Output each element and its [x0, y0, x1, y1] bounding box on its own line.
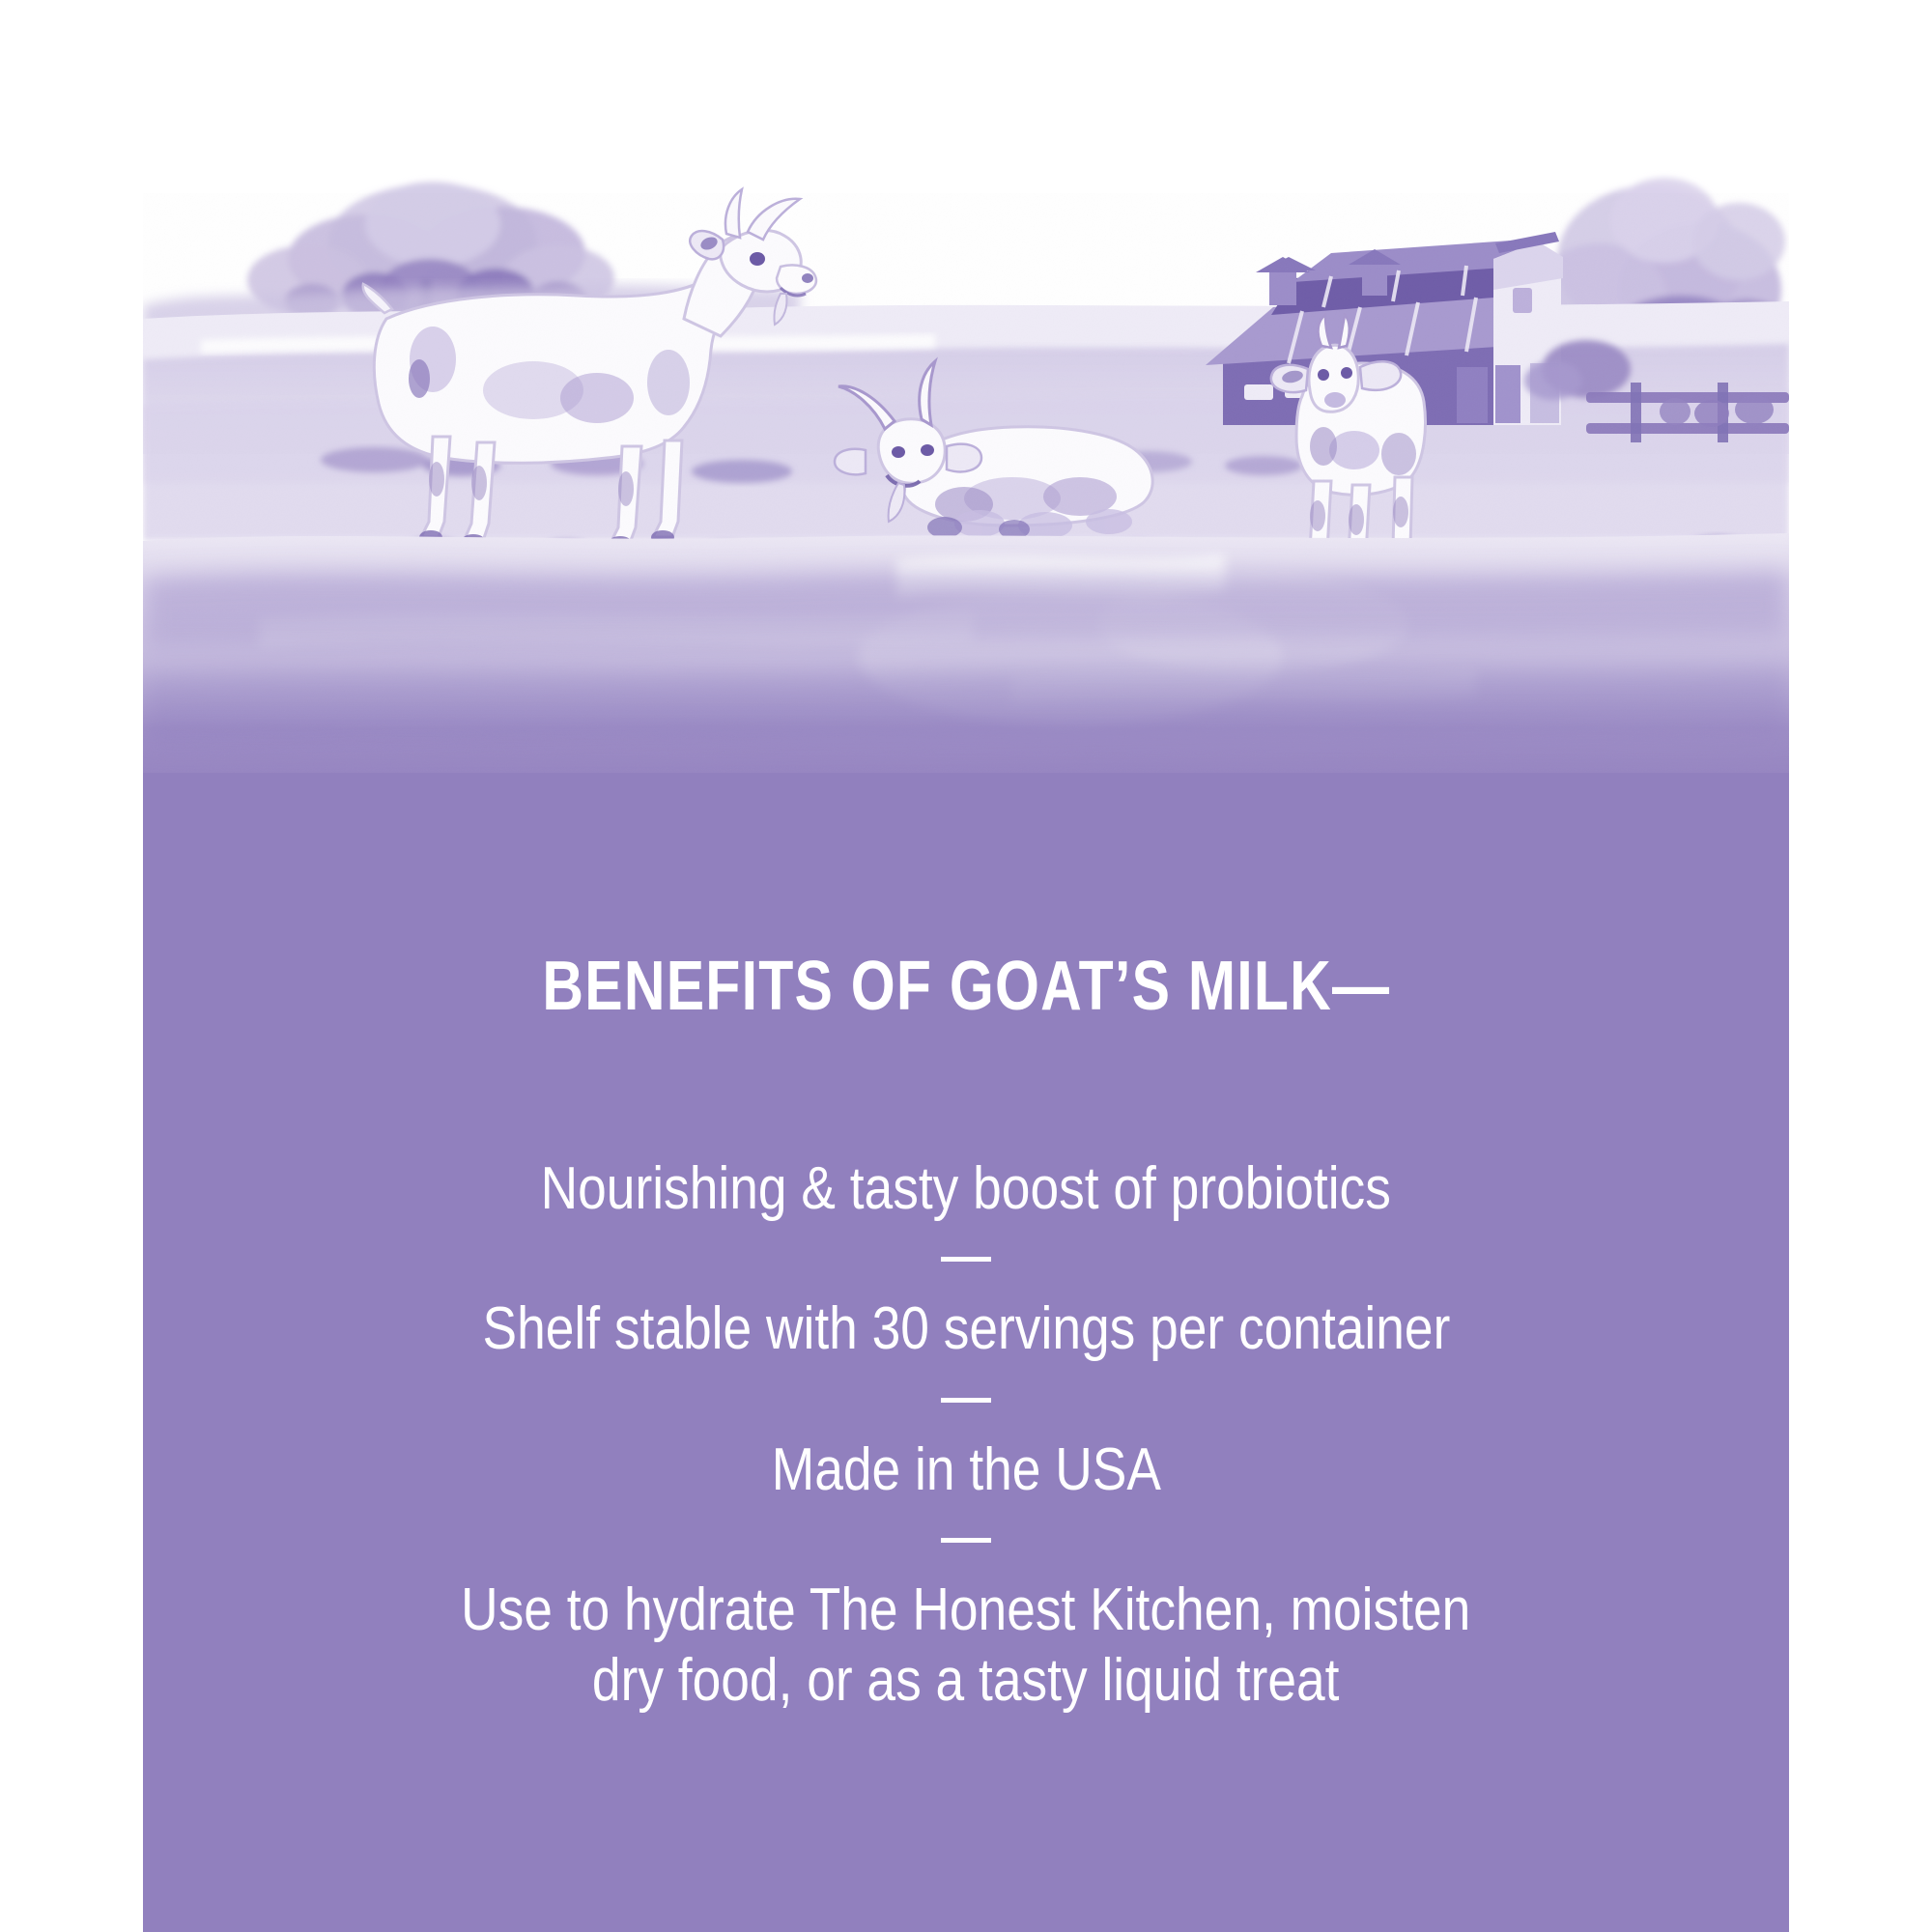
benefit-item-4: Use to hydrate The Honest Kitchen, moist… [461, 1576, 1470, 1716]
benefit-separator-3 [941, 1538, 991, 1543]
benefits-list: Nourishing & tasty boost of probiotics S… [213, 1154, 1719, 1717]
pasture-illustration [143, 0, 1789, 850]
benefit-item-2: Shelf stable with 30 servings per contai… [482, 1294, 1450, 1365]
benefit-item-1: Nourishing & tasty boost of probiotics [541, 1154, 1391, 1225]
benefit-separator-2 [941, 1398, 991, 1403]
paper-grain [143, 193, 1789, 850]
benefits-panel: BENEFITS OF GOAT’S MILK— Nourishing & ta… [143, 773, 1789, 1932]
page-title: BENEFITS OF GOAT’S MILK— [542, 952, 1390, 1021]
pasture-illustration-svg [143, 0, 1789, 850]
benefit-item-3: Made in the USA [771, 1435, 1160, 1506]
benefit-separator-1 [941, 1257, 991, 1262]
product-benefits-graphic: BENEFITS OF GOAT’S MILK— Nourishing & ta… [0, 0, 1932, 1932]
